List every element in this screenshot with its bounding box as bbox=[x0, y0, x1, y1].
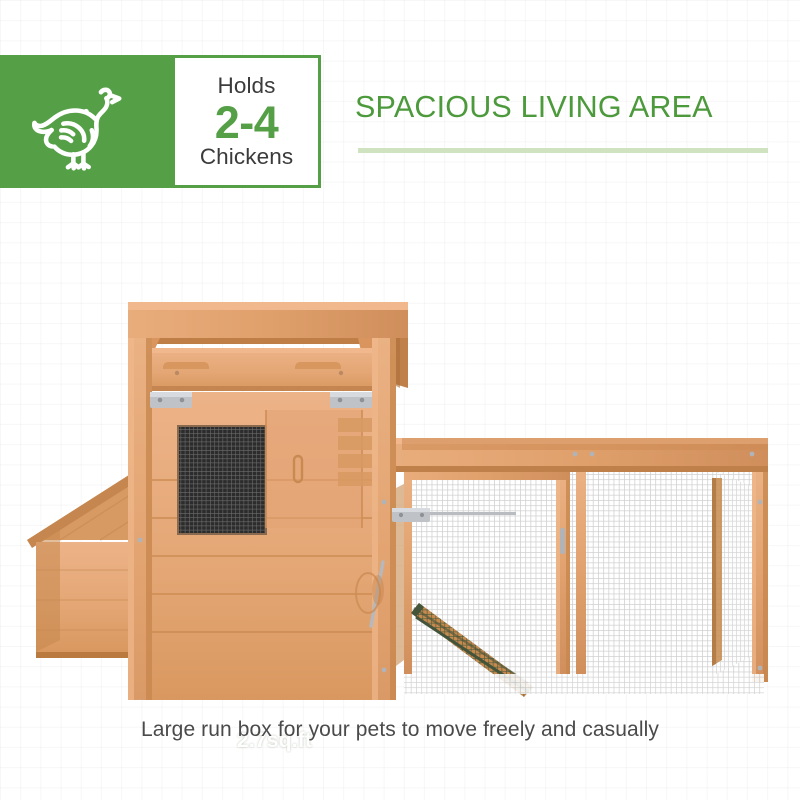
holds-label: Holds bbox=[217, 75, 275, 98]
product-image: 2.7sq.ft 10.76sq.ft bbox=[0, 240, 800, 700]
hinge bbox=[150, 392, 192, 408]
run-box bbox=[356, 438, 768, 697]
capacity-badge: Holds 2-4 Chickens bbox=[0, 55, 321, 188]
infographic-canvas: Holds 2-4 Chickens SPACIOUS LIVING AREA bbox=[0, 0, 800, 800]
coop-house bbox=[128, 302, 408, 700]
page-title: SPACIOUS LIVING AREA bbox=[355, 92, 785, 123]
chicken-icon bbox=[20, 69, 125, 174]
hinge bbox=[330, 392, 372, 408]
capacity-text-box: Holds 2-4 Chickens bbox=[173, 56, 320, 187]
caption-text: Large run box for your pets to move free… bbox=[0, 718, 800, 742]
capacity-unit-label: Chickens bbox=[200, 146, 293, 169]
capacity-value: 2-4 bbox=[215, 100, 279, 146]
headline-wrap: SPACIOUS LIVING AREA bbox=[355, 92, 785, 123]
headline-underline bbox=[358, 148, 768, 153]
